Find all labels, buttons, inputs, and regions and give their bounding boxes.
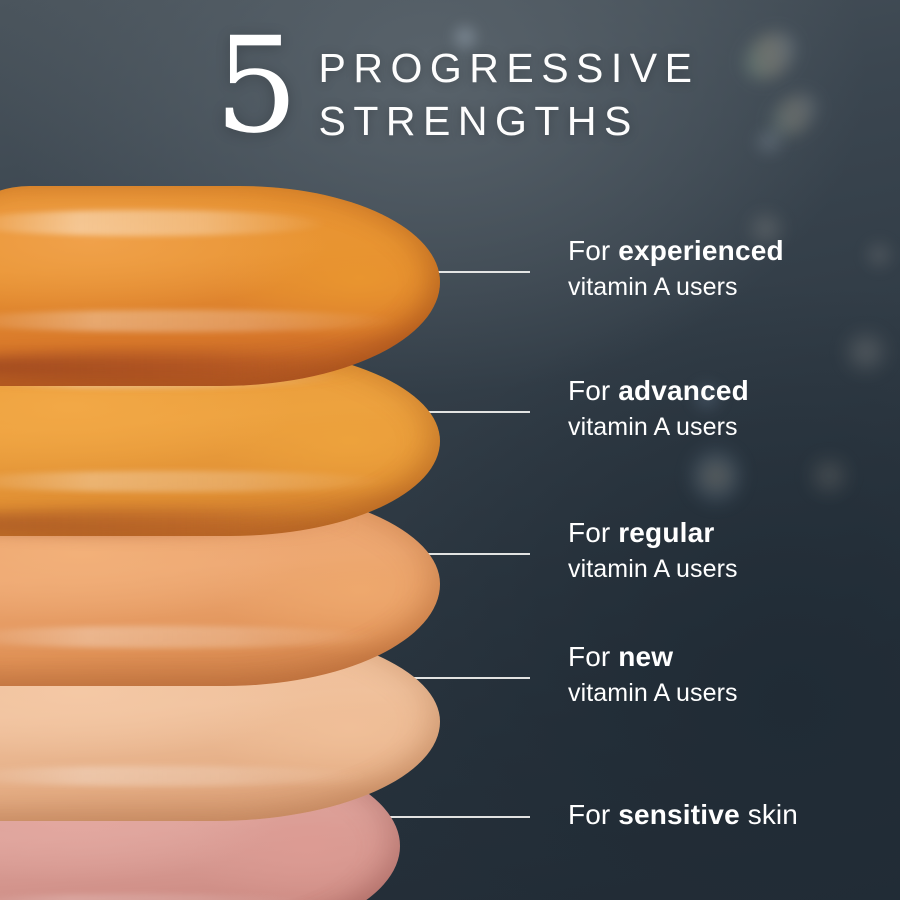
desc-prefix: For	[568, 235, 618, 266]
description-line-1: For sensitive skin	[568, 798, 798, 832]
lens-flare-icon	[840, 330, 892, 374]
description-strength-10: For advanced vitamin A users	[568, 374, 749, 444]
description-line-1: For new	[568, 640, 738, 674]
cream-swatch-stack	[0, 186, 560, 900]
desc-prefix: For	[568, 517, 618, 548]
page-header: 5 PROGRESSIVE STRENGTHS	[0, 28, 900, 148]
desc-emphasis: advanced	[618, 375, 749, 406]
desc-emphasis: experienced	[618, 235, 784, 266]
description-strength-1: For sensitive skin	[568, 798, 798, 835]
lens-flare-icon	[692, 448, 740, 504]
desc-emphasis: regular	[618, 517, 714, 548]
description-line-2: vitamin A users	[568, 553, 738, 586]
page-title-line-1: PROGRESSIVE	[319, 42, 700, 95]
desc-prefix: For	[568, 375, 618, 406]
header-number: 5	[215, 32, 297, 140]
description-line-1: For regular	[568, 516, 738, 550]
lens-flare-icon	[806, 456, 852, 496]
lens-flare-icon	[862, 238, 896, 272]
infographic-canvas: 5 PROGRESSIVE STRENGTHS	[0, 0, 900, 900]
description-strength-20: For experienced vitamin A users	[568, 234, 784, 304]
desc-emphasis: new	[618, 641, 673, 672]
description-line-2: vitamin A users	[568, 271, 784, 304]
desc-prefix: For	[568, 799, 618, 830]
desc-emphasis: sensitive	[618, 799, 740, 830]
description-strength-6: For regular vitamin A users	[568, 516, 738, 586]
header-title-group: PROGRESSIVE STRENGTHS	[319, 28, 700, 148]
description-strength-3: For new vitamin A users	[568, 640, 738, 710]
desc-tail: skin	[740, 799, 798, 830]
desc-prefix: For	[568, 641, 618, 672]
description-line-1: For advanced	[568, 374, 749, 408]
description-line-1: For experienced	[568, 234, 784, 268]
swatch-strength-20	[0, 186, 440, 386]
description-line-2: vitamin A users	[568, 411, 749, 444]
description-line-2: vitamin A users	[568, 677, 738, 710]
page-title-line-2: STRENGTHS	[319, 95, 700, 148]
